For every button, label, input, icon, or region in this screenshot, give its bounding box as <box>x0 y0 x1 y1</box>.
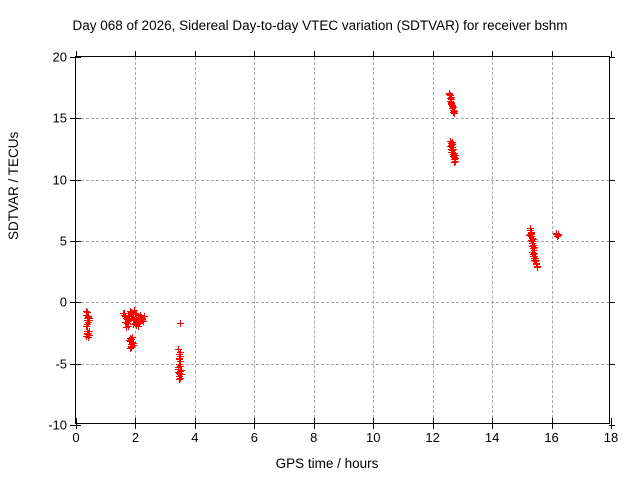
x-tick-label: 0 <box>72 430 79 445</box>
x-axis-tick <box>552 418 553 423</box>
data-point <box>446 91 453 98</box>
y-axis-tick <box>609 57 615 58</box>
data-point <box>86 328 93 335</box>
data-point <box>177 320 184 327</box>
x-axis-tick <box>373 51 374 57</box>
y-axis-tick <box>76 302 81 303</box>
y-axis-tick <box>76 57 81 58</box>
gridline-vertical <box>195 57 196 423</box>
gridline-vertical <box>373 57 374 423</box>
gridline-vertical <box>135 57 136 423</box>
y-axis-tick <box>609 364 615 365</box>
data-point <box>176 355 183 362</box>
y-tick-label: 15 <box>53 111 67 126</box>
x-axis-tick <box>254 418 255 423</box>
gridline-horizontal <box>76 364 609 365</box>
x-axis-tick <box>76 51 77 57</box>
gridline-horizontal <box>76 180 609 181</box>
x-tick-label: 16 <box>544 430 558 445</box>
x-axis-tick <box>195 51 196 57</box>
y-tick-label: 0 <box>60 295 67 310</box>
gridline-vertical <box>254 57 255 423</box>
data-point <box>452 155 459 162</box>
plot-area: -10-505101520024681012141618 <box>75 56 610 424</box>
x-axis-tick <box>492 423 493 429</box>
x-axis-tick <box>135 423 136 429</box>
x-axis-tick <box>611 418 612 423</box>
x-axis-tick <box>611 51 612 57</box>
data-point <box>85 314 92 321</box>
x-axis-tick <box>195 423 196 429</box>
y-axis-tick <box>609 302 615 303</box>
data-point <box>449 139 456 146</box>
data-point <box>526 232 533 239</box>
x-axis-title: GPS time / hours <box>0 456 640 471</box>
gridline-horizontal <box>76 302 609 303</box>
y-axis-tick <box>609 425 615 426</box>
data-point <box>531 250 538 257</box>
x-axis-tick <box>433 51 434 57</box>
y-axis-tick <box>76 118 81 119</box>
x-tick-label: 2 <box>132 430 139 445</box>
x-axis-tick <box>552 51 553 57</box>
x-axis-tick <box>314 423 315 429</box>
y-axis-tick <box>76 364 81 365</box>
y-axis-tick <box>76 180 81 181</box>
x-axis-tick <box>135 418 136 423</box>
x-axis-tick <box>492 51 493 57</box>
x-axis-tick <box>373 418 374 423</box>
x-tick-label: 14 <box>485 430 499 445</box>
y-axis-tick <box>76 241 81 242</box>
y-axis-title: SDTVAR / TECUs <box>6 132 21 240</box>
y-tick-label: -10 <box>48 418 67 433</box>
gridline-horizontal <box>76 118 609 119</box>
x-axis-tick <box>254 51 255 57</box>
x-axis-tick <box>314 418 315 423</box>
data-point <box>121 310 128 317</box>
data-point <box>553 231 560 238</box>
y-tick-label: 20 <box>53 50 67 65</box>
y-tick-label: 10 <box>53 172 67 187</box>
data-point <box>448 99 455 106</box>
y-axis-tick <box>609 180 615 181</box>
data-point <box>534 264 541 271</box>
gridline-vertical <box>314 57 315 423</box>
data-point <box>132 320 139 327</box>
x-axis-tick <box>433 423 434 429</box>
x-axis-tick <box>552 423 553 429</box>
x-axis-tick <box>433 418 434 423</box>
data-point <box>451 108 458 115</box>
data-point <box>129 334 136 341</box>
x-tick-label: 4 <box>191 430 198 445</box>
x-tick-label: 8 <box>310 430 317 445</box>
y-axis-tick <box>609 118 615 119</box>
x-tick-label: 10 <box>366 430 380 445</box>
x-axis-title-text: GPS time / hours <box>262 456 379 471</box>
x-axis-tick <box>76 418 77 423</box>
y-tick-label: -5 <box>55 356 67 371</box>
chart-title: Day 068 of 2026, Sidereal Day-to-day VTE… <box>0 18 640 33</box>
x-tick-label: 6 <box>251 430 258 445</box>
y-tick-label: 5 <box>60 234 67 249</box>
x-tick-label: 12 <box>425 430 439 445</box>
x-axis-tick <box>373 423 374 429</box>
data-point <box>178 371 185 378</box>
chart-page: Day 068 of 2026, Sidereal Day-to-day VTE… <box>0 0 640 480</box>
x-axis-tick <box>254 423 255 429</box>
gridline-vertical <box>552 57 553 423</box>
data-point <box>128 343 135 350</box>
x-axis-tick <box>314 51 315 57</box>
x-axis-tick <box>195 418 196 423</box>
x-axis-tick <box>492 418 493 423</box>
gridline-vertical <box>492 57 493 423</box>
gridline-vertical <box>433 57 434 423</box>
x-axis-tick <box>135 51 136 57</box>
y-axis-tick <box>609 241 615 242</box>
x-tick-label: 18 <box>604 430 618 445</box>
data-point <box>141 313 148 320</box>
x-axis-tick <box>76 423 77 429</box>
x-axis-tick <box>611 423 612 429</box>
